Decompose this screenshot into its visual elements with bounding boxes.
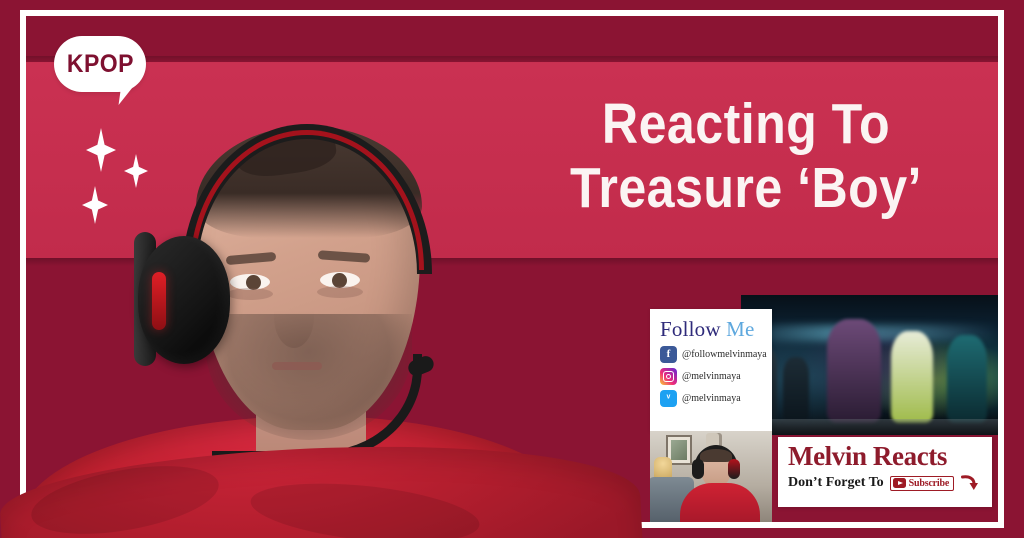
facebook-icon: f [660,346,677,363]
desk-lamp [654,457,672,479]
under-eye-shadow [317,286,363,298]
mv-floor [741,419,998,435]
webcam-inset [650,431,772,522]
social-row-twitter[interactable]: ᵛ @melvinmaya [660,390,764,407]
channel-branding-strip: Melvin Reacts Don’t Forget To Subscribe [778,437,992,507]
curved-arrow-icon [960,474,978,492]
follow-me-card: Follow Me f @followmelvinmaya @melvinmay… [650,309,772,431]
mv-figure [827,319,881,423]
subscribe-button[interactable]: Subscribe [890,476,954,491]
instagram-lens [666,374,672,380]
mv-figure [783,357,809,423]
subscribe-cta-text: Don’t Forget To [788,475,884,491]
kpop-badge: KPOP [54,36,146,92]
page-title: Reacting To Treasure ‘Boy’ [512,92,980,220]
follow-me-word-2: Me [726,317,754,341]
webcam-person-hair [700,449,732,462]
preview-composite: Follow Me f @followmelvinmaya @melvinmay… [621,289,998,522]
headset-led-accent [152,272,166,330]
sparkle-diamond-icon [86,128,116,172]
social-row-facebook[interactable]: f @followmelvinmaya [660,346,764,363]
youtube-play-icon [893,478,906,488]
instagram-icon [660,368,677,385]
sparkle-diamond-icon [124,154,148,188]
follow-me-title: Follow Me [660,317,764,341]
instagram-square [663,371,674,382]
instagram-handle: @melvinmaya [682,371,741,382]
under-eye-shadow [227,288,273,300]
video-thumbnail: KPOP Reacting To Treasure ‘Boy’ [0,0,1024,538]
twitter-icon: ᵛ [660,390,677,407]
artwork-area: KPOP Reacting To Treasure ‘Boy’ [26,16,998,522]
sparkle-diamond-icon [82,186,108,224]
follow-me-word-1: Follow [660,317,721,341]
music-video-still [741,295,998,435]
subscribe-cta-row: Don’t Forget To Subscribe [788,474,984,492]
kpop-badge-label: KPOP [66,50,133,79]
mv-figure [891,331,933,423]
title-line-1: Reacting To [540,92,952,156]
title-line-2: Treasure ‘Boy’ [540,156,952,220]
subscribe-button-label: Subscribe [909,478,949,489]
webcam-earcup-left [692,459,704,479]
wall-picture-art [671,440,687,460]
facebook-handle: @followmelvinmaya [682,349,767,360]
webcam-earcup-right [728,459,740,479]
channel-name: Melvin Reacts [788,439,984,473]
twitter-handle: @melvinmaya [682,393,741,404]
mv-figure [947,335,987,423]
social-row-instagram[interactable]: @melvinmaya [660,368,764,385]
band-shadow-top [26,56,998,63]
